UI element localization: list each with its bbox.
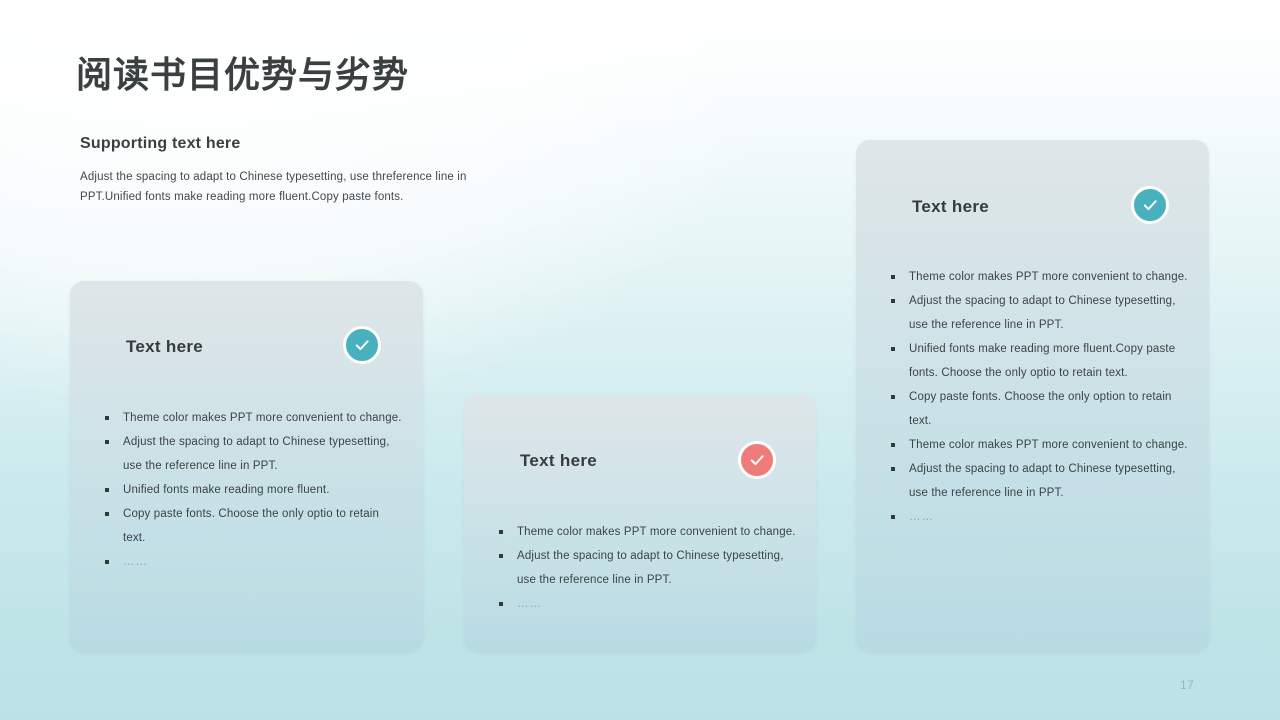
page-title: 阅读书目优势与劣势 [76, 52, 409, 97]
check-circle-icon [1131, 186, 1169, 224]
card-left[interactable]: Text here Theme color makes PPT more con… [70, 281, 423, 652]
list-item: Unified fonts make reading more fluent. [94, 478, 404, 502]
card-left-bullet-list: Theme color makes PPT more convenient to… [94, 406, 404, 574]
list-item: Adjust the spacing to adapt to Chinese t… [488, 544, 796, 592]
card-right[interactable]: Text here Theme color makes PPT more con… [856, 140, 1209, 652]
list-item: Adjust the spacing to adapt to Chinese t… [880, 457, 1190, 505]
card-middle-bullet-list: Theme color makes PPT more convenient to… [488, 520, 796, 616]
supporting-text-body: Adjust the spacing to adapt to Chinese t… [80, 167, 530, 207]
list-item: Adjust the spacing to adapt to Chinese t… [880, 289, 1190, 337]
supporting-text-heading: Supporting text here [80, 135, 240, 153]
list-item: Unified fonts make reading more fluent.C… [880, 337, 1190, 385]
list-item: Theme color makes PPT more convenient to… [94, 406, 404, 430]
check-circle-icon [738, 441, 776, 479]
list-item: …… [880, 505, 1190, 529]
slide-canvas: 阅读书目优势与劣势 Supporting text here Adjust th… [0, 0, 1280, 720]
list-item: Copy paste fonts. Choose the only optio … [94, 502, 404, 550]
list-item: Theme color makes PPT more convenient to… [880, 433, 1190, 457]
card-left-heading: Text here [126, 337, 203, 357]
page-number: 17 [1180, 678, 1194, 692]
check-circle-icon [343, 326, 381, 364]
card-right-heading: Text here [912, 197, 989, 217]
card-middle[interactable]: Text here Theme color makes PPT more con… [464, 395, 816, 652]
list-item: …… [94, 550, 404, 574]
list-item: Theme color makes PPT more convenient to… [880, 265, 1190, 289]
card-right-bullet-list: Theme color makes PPT more convenient to… [880, 265, 1190, 529]
list-item: …… [488, 592, 796, 616]
card-middle-heading: Text here [520, 451, 597, 471]
list-item: Adjust the spacing to adapt to Chinese t… [94, 430, 404, 478]
list-item: Copy paste fonts. Choose the only option… [880, 385, 1190, 433]
list-item: Theme color makes PPT more convenient to… [488, 520, 796, 544]
